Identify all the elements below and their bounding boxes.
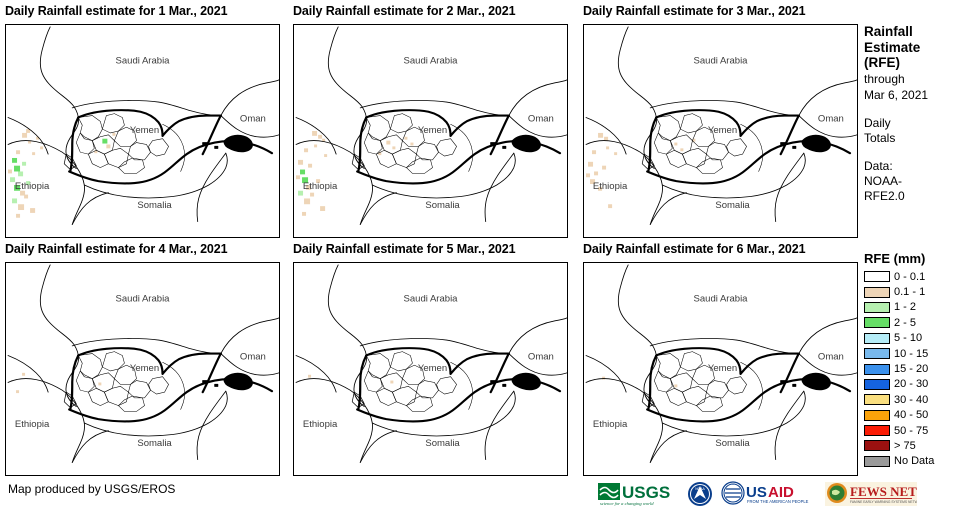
legend-item-9[interactable]: 40 - 50	[864, 408, 964, 423]
usgs-logo: USGS science for a changing world	[598, 481, 680, 507]
svg-text:Oman: Oman	[240, 352, 266, 362]
legend-item-6[interactable]: 15 - 20	[864, 361, 964, 376]
rfe-data-label: Data:	[864, 159, 964, 174]
legend-item-3[interactable]: 2 - 5	[864, 315, 964, 330]
map-canvas-1[interactable]: Saudi Arabia Oman Yemen Ethiopia Somalia	[5, 24, 280, 238]
svg-text:NOAA: NOAA	[695, 487, 705, 491]
rfe-totals-line2: Totals	[864, 131, 964, 146]
rfe-data-source-line1: NOAA-	[864, 174, 964, 189]
svg-text:FAMINE EARLY WARNING SYSTEMS N: FAMINE EARLY WARNING SYSTEMS NETWORK	[850, 500, 917, 504]
rfe-totals-line1: Daily	[864, 116, 964, 131]
svg-text:FEWS NET: FEWS NET	[850, 484, 917, 499]
map-canvas-3[interactable]: Saudi Arabia Oman Yemen Ethiopia Somalia	[583, 24, 858, 238]
map-credit: Map produced by USGS/EROS	[8, 482, 175, 496]
map-panel-title-2: Daily Rainfall estimate for 2 Mar., 2021	[293, 4, 516, 18]
map-svg-3: Saudi Arabia Oman Yemen Ethiopia Somalia	[584, 25, 857, 237]
legend-label-12: No Data	[894, 455, 934, 467]
legend-swatch-3	[864, 317, 890, 328]
legend-swatch-9	[864, 410, 890, 421]
legend-swatch-1	[864, 287, 890, 298]
legend-label-6: 15 - 20	[894, 363, 928, 375]
legend-item-1[interactable]: 0.1 - 1	[864, 284, 964, 299]
legend-label-5: 10 - 15	[894, 348, 928, 360]
legend-label-9: 40 - 50	[894, 409, 928, 421]
legend-label-0: 0 - 0.1	[894, 271, 925, 283]
svg-text:Somalia: Somalia	[425, 200, 460, 210]
legend-item-10[interactable]: 50 - 75	[864, 423, 964, 438]
rfe-totals: Daily Totals	[864, 116, 964, 146]
svg-text:USGS: USGS	[622, 483, 670, 502]
map-canvas-6[interactable]: Saudi Arabia Oman Yemen Ethiopia Somalia	[583, 262, 858, 476]
svg-text:FROM THE AMERICAN PEOPLE: FROM THE AMERICAN PEOPLE	[747, 499, 809, 504]
svg-text:Yemen: Yemen	[418, 363, 447, 373]
rfe-info-column: Rainfall Estimate (RFE) through Mar 6, 2…	[864, 24, 964, 204]
svg-text:Yemen: Yemen	[418, 125, 447, 135]
svg-text:Saudi Arabia: Saudi Arabia	[694, 56, 749, 66]
map-panel-title-1: Daily Rainfall estimate for 1 Mar., 2021	[5, 4, 228, 18]
svg-text:Ethiopia: Ethiopia	[593, 419, 628, 429]
legend-swatch-5	[864, 348, 890, 359]
map-svg-1: Saudi Arabia Oman Yemen Ethiopia Somalia	[6, 25, 279, 237]
legend-swatch-7	[864, 379, 890, 390]
legend-swatch-4	[864, 333, 890, 344]
map-canvas-5[interactable]: Saudi Arabia Oman Yemen Ethiopia Somalia	[293, 262, 568, 476]
svg-text:Yemen: Yemen	[130, 363, 159, 373]
legend-item-2[interactable]: 1 - 2	[864, 300, 964, 315]
svg-text:Saudi Arabia: Saudi Arabia	[116, 56, 171, 66]
map-svg-2: Saudi Arabia Oman Yemen Ethiopia Somalia	[294, 25, 567, 237]
legend-swatch-10	[864, 425, 890, 436]
legend-label-11: > 75	[894, 440, 916, 452]
fewsnet-logo: FEWS NET FAMINE EARLY WARNING SYSTEMS NE…	[825, 481, 917, 507]
svg-text:Ethiopia: Ethiopia	[303, 419, 338, 429]
svg-text:Somalia: Somalia	[425, 438, 460, 448]
legend-item-12[interactable]: No Data	[864, 454, 964, 469]
map-panel-title-6: Daily Rainfall estimate for 6 Mar., 2021	[583, 242, 806, 256]
rfe-data-source: Data: NOAA- RFE2.0	[864, 159, 964, 204]
rfe-through-date: Mar 6, 2021	[864, 88, 964, 103]
svg-text:Yemen: Yemen	[708, 125, 737, 135]
legend-swatch-8	[864, 394, 890, 405]
map-panel-title-5: Daily Rainfall estimate for 5 Mar., 2021	[293, 242, 516, 256]
svg-text:Yemen: Yemen	[708, 363, 737, 373]
rfe-heading-line1: Rainfall	[864, 24, 964, 40]
map-canvas-4[interactable]: Saudi Arabia Oman Yemen Ethiopia Somalia	[5, 262, 280, 476]
svg-text:Ethiopia: Ethiopia	[15, 419, 50, 429]
legend-swatch-2	[864, 302, 890, 313]
svg-text:Yemen: Yemen	[130, 125, 159, 135]
legend-item-11[interactable]: > 75	[864, 438, 964, 453]
rfe-through-label: through	[864, 72, 964, 87]
legend-title: RFE (mm)	[864, 251, 964, 266]
legend-label-2: 1 - 2	[894, 301, 916, 313]
agency-logos: USGS science for a changing world NOAA U…	[598, 480, 917, 508]
svg-text:Ethiopia: Ethiopia	[593, 181, 628, 191]
map-panel-title-4: Daily Rainfall estimate for 4 Mar., 2021	[5, 242, 228, 256]
legend-swatch-12	[864, 456, 890, 467]
rfe-data-source-line2: RFE2.0	[864, 189, 964, 204]
svg-text:Oman: Oman	[528, 114, 554, 124]
rfe-heading-line2: Estimate	[864, 40, 964, 56]
legend-label-3: 2 - 5	[894, 317, 916, 329]
legend-item-5[interactable]: 10 - 15	[864, 346, 964, 361]
legend-label-8: 30 - 40	[894, 394, 928, 406]
svg-text:Ethiopia: Ethiopia	[15, 181, 50, 191]
legend-label-4: 5 - 10	[894, 332, 922, 344]
map-canvas-2[interactable]: Saudi Arabia Oman Yemen Ethiopia Somalia	[293, 24, 568, 238]
legend-swatch-0	[864, 271, 890, 282]
svg-text:Oman: Oman	[818, 114, 844, 124]
legend-item-0[interactable]: 0 - 0.1	[864, 269, 964, 284]
svg-text:Somalia: Somalia	[715, 438, 750, 448]
rfe-heading-line3: (RFE)	[864, 55, 964, 71]
map-svg-5: Saudi Arabia Oman Yemen Ethiopia Somalia	[294, 263, 567, 475]
rfe-legend: RFE (mm) 0 - 0.10.1 - 11 - 22 - 55 - 101…	[864, 251, 964, 469]
svg-text:Ethiopia: Ethiopia	[303, 181, 338, 191]
legend-item-7[interactable]: 20 - 30	[864, 377, 964, 392]
legend-item-8[interactable]: 30 - 40	[864, 392, 964, 407]
svg-text:Oman: Oman	[240, 114, 266, 124]
svg-text:Saudi Arabia: Saudi Arabia	[116, 294, 171, 304]
legend-item-4[interactable]: 5 - 10	[864, 331, 964, 346]
svg-text:Oman: Oman	[818, 352, 844, 362]
svg-text:Saudi Arabia: Saudi Arabia	[404, 56, 459, 66]
svg-text:Saudi Arabia: Saudi Arabia	[694, 294, 749, 304]
legend-swatch-11	[864, 440, 890, 451]
svg-text:Oman: Oman	[528, 352, 554, 362]
legend-label-1: 0.1 - 1	[894, 286, 925, 298]
rfe-heading: Rainfall Estimate (RFE)	[864, 24, 964, 71]
legend-swatch-6	[864, 364, 890, 375]
svg-text:Somalia: Somalia	[715, 200, 750, 210]
usaid-logo: US AID FROM THE AMERICAN PEOPLE	[720, 481, 818, 507]
svg-text:science for a changing world: science for a changing world	[600, 501, 654, 506]
svg-text:Somalia: Somalia	[137, 200, 172, 210]
map-svg-6: Saudi Arabia Oman Yemen Ethiopia Somalia	[584, 263, 857, 475]
map-panel-title-3: Daily Rainfall estimate for 3 Mar., 2021	[583, 4, 806, 18]
legend-rows: 0 - 0.10.1 - 11 - 22 - 55 - 1010 - 1515 …	[864, 269, 964, 469]
legend-label-10: 50 - 75	[894, 425, 928, 437]
svg-text:Saudi Arabia: Saudi Arabia	[404, 294, 459, 304]
map-svg-4: Saudi Arabia Oman Yemen Ethiopia Somalia	[6, 263, 279, 475]
svg-text:Somalia: Somalia	[137, 438, 172, 448]
noaa-logo: NOAA	[687, 481, 713, 507]
legend-label-7: 20 - 30	[894, 378, 928, 390]
